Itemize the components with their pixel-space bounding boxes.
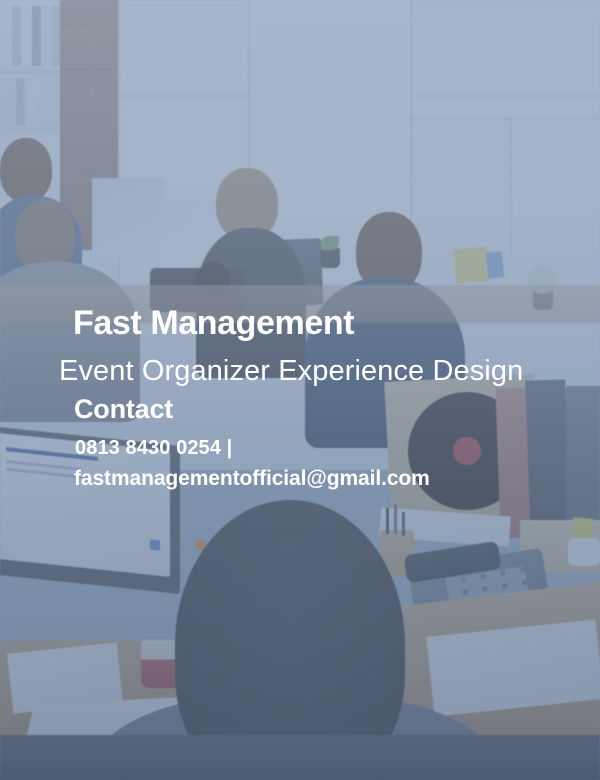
poster-text-block: Fast Management Event Organizer Experien… (0, 0, 600, 780)
contact-heading: Contact (74, 396, 173, 423)
page-subtitle: Event Organizer Experience Design (59, 355, 523, 388)
page-title: Fast Management (73, 306, 354, 340)
contact-email[interactable]: fastmanagementofficial@gmail.com (74, 468, 430, 489)
poster-canvas: Fast Management Event Organizer Experien… (0, 0, 600, 780)
contact-phone[interactable]: 0813 8430 0254 | (75, 438, 232, 458)
